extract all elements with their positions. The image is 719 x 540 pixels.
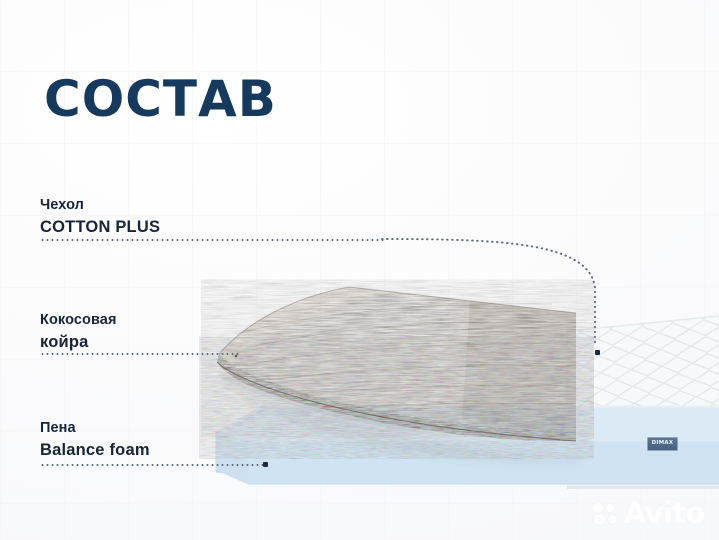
callout-coir: Кокосовая койра <box>40 311 117 353</box>
leader-line-foam <box>40 464 265 466</box>
leader-elbow-cover <box>380 228 610 358</box>
avito-logo-icon <box>593 503 619 525</box>
callout-cover-line1: Чехол <box>40 196 160 216</box>
leader-line-coir <box>40 353 240 355</box>
brand-badge: DIMAX <box>647 437 678 451</box>
leader-line-cover <box>40 239 385 241</box>
composition-infographic: СОСТАВ Чехол COTTON PLUS Кокосовая койра… <box>0 0 719 540</box>
avito-watermark-text: Avito <box>624 499 705 528</box>
callout-foam: Пена Balance foam <box>40 419 150 461</box>
callout-coir-line1: Кокосовая <box>40 311 117 331</box>
leader-endpoint-cover <box>595 350 600 355</box>
callout-foam-line2: Balance foam <box>40 439 150 461</box>
avito-watermark: Avito <box>593 499 705 528</box>
leader-endpoint-foam <box>263 462 268 467</box>
callout-cover-line2: COTTON PLUS <box>40 216 160 238</box>
brand-badge-label: DIMAX <box>652 441 674 446</box>
callout-foam-line1: Пена <box>40 419 150 439</box>
callout-coir-line2: койра <box>40 331 117 353</box>
page-title: СОСТАВ <box>44 74 277 124</box>
callout-cover: Чехол COTTON PLUS <box>40 196 160 238</box>
